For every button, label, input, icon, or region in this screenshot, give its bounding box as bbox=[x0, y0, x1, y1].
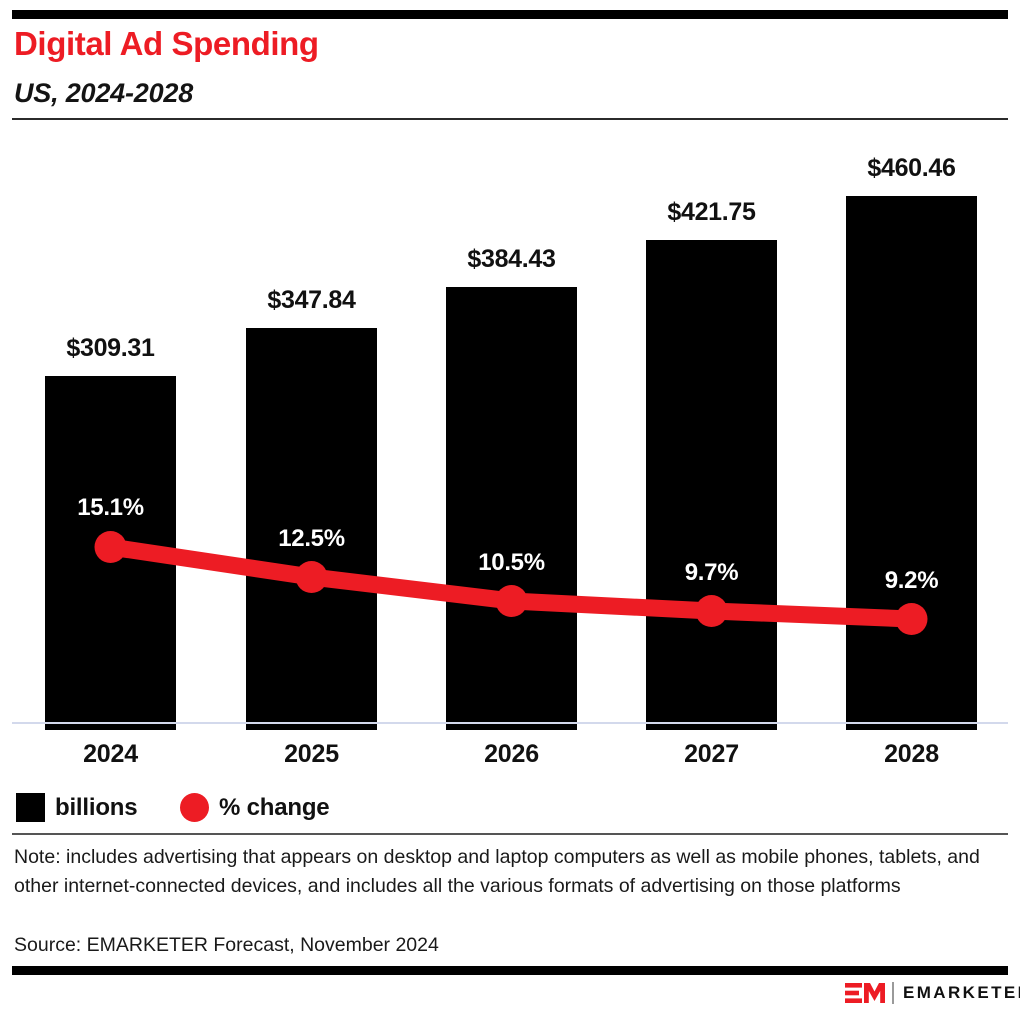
pct-label-2028: 9.2% bbox=[846, 567, 977, 595]
bar-value-label-2028: $460.46 bbox=[846, 154, 977, 183]
legend-swatch-billions-icon bbox=[16, 793, 45, 822]
header-divider bbox=[12, 118, 1008, 120]
bar-2027 bbox=[646, 240, 777, 730]
x-axis-label-2026: 2026 bbox=[446, 740, 577, 769]
pct-label-2026: 10.5% bbox=[446, 549, 577, 577]
x-axis-label-2024: 2024 bbox=[45, 740, 176, 769]
em-logo-mark-icon bbox=[845, 982, 885, 1004]
chart-canvas: Digital Ad Spending US, 2024-2028 $309.3… bbox=[0, 0, 1020, 1016]
emarketer-logo: EMARKETER bbox=[845, 982, 1020, 1004]
chart-note: Note: includes advertising that appears … bbox=[14, 843, 984, 901]
x-axis-label-2028: 2028 bbox=[846, 740, 977, 769]
bar-2024 bbox=[45, 376, 176, 730]
footer-divider bbox=[12, 833, 1008, 835]
pct-label-2024: 15.1% bbox=[45, 494, 176, 522]
logo-wordmark: EMARKETER bbox=[903, 982, 1020, 1004]
chart-subtitle: US, 2024-2028 bbox=[14, 80, 193, 107]
bar-value-label-2027: $421.75 bbox=[646, 198, 777, 227]
legend-label-billions: billions bbox=[55, 793, 137, 822]
plot-area: $309.31 $347.84 $384.43 $421.75 $460.46 … bbox=[0, 130, 1020, 730]
x-axis-line bbox=[12, 722, 1008, 724]
pct-label-2025: 12.5% bbox=[246, 525, 377, 553]
legend-swatch-percent-change-icon bbox=[180, 793, 209, 822]
legend-label-percent-change: % change bbox=[219, 793, 329, 822]
x-axis-label-2027: 2027 bbox=[646, 740, 777, 769]
bar-value-label-2025: $347.84 bbox=[246, 286, 377, 315]
x-axis-label-2025: 2025 bbox=[246, 740, 377, 769]
top-divider-bar bbox=[12, 10, 1008, 19]
logo-divider bbox=[892, 982, 894, 1004]
chart-title: Digital Ad Spending bbox=[14, 27, 319, 60]
pct-label-2027: 9.7% bbox=[646, 559, 777, 587]
bar-value-label-2026: $384.43 bbox=[446, 245, 577, 274]
bar-2028 bbox=[846, 196, 977, 730]
bar-2026 bbox=[446, 287, 577, 730]
bottom-divider-bar bbox=[12, 966, 1008, 975]
chart-source: Source: EMARKETER Forecast, November 202… bbox=[14, 932, 439, 958]
bar-value-label-2024: $309.31 bbox=[45, 334, 176, 363]
